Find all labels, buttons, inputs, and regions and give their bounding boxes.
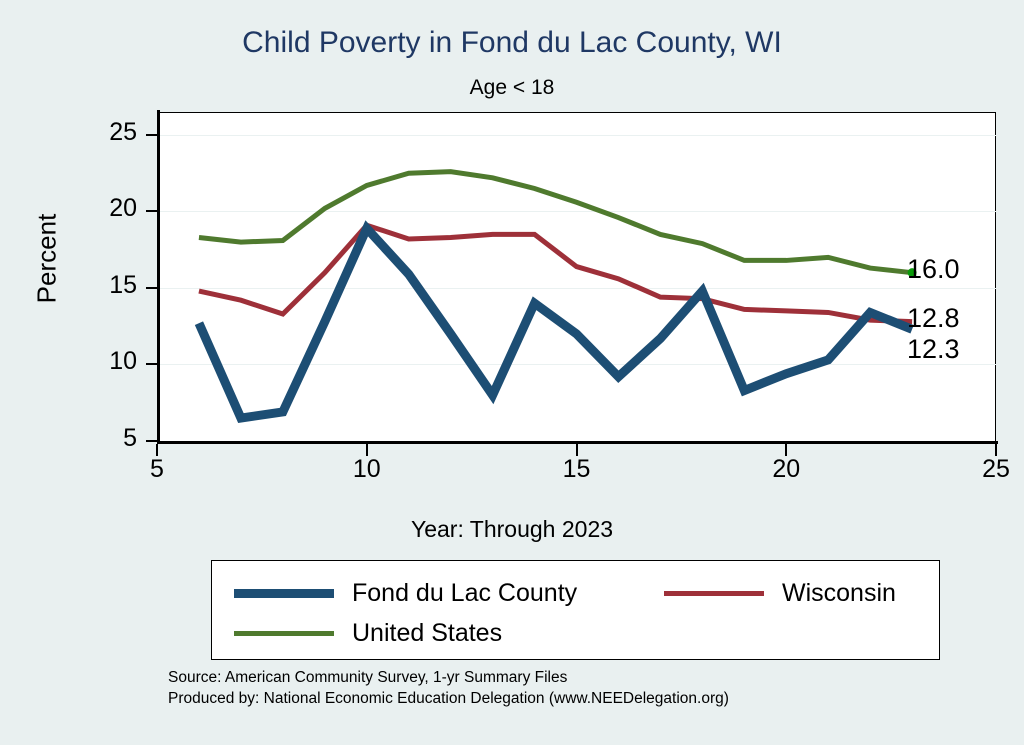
y-axis-label: Percent [32, 179, 63, 339]
chart-footer: Source: American Community Survey, 1-yr … [168, 668, 729, 709]
legend-label-fond-du-lac-county: Fond du Lac County [352, 579, 577, 608]
legend-swatch-united-states [234, 631, 334, 636]
series-end-label: 12.8 [907, 303, 960, 334]
y-tick-mark [146, 440, 157, 442]
x-tick-label: 15 [542, 455, 612, 484]
footer-produced-by: Produced by: National Economic Education… [168, 689, 729, 710]
y-tick-label: 20 [75, 194, 137, 223]
legend-label-wisconsin: Wisconsin [782, 579, 896, 608]
gridline [157, 135, 996, 136]
y-tick-mark [146, 363, 157, 365]
y-tick-label: 15 [75, 271, 137, 300]
y-tick-label: 5 [75, 424, 137, 453]
y-tick-mark [146, 287, 157, 289]
legend-item-wisconsin: Wisconsin [664, 579, 896, 608]
y-axis-line [157, 110, 160, 444]
y-tick-label: 25 [75, 118, 137, 147]
chart-subtitle: Age < 18 [0, 76, 1024, 100]
x-axis-label: Year: Through 2023 [0, 516, 1024, 543]
legend-item-united-states: United States [234, 619, 502, 648]
legend-item-fond-du-lac-county: Fond du Lac County [234, 579, 577, 608]
series-end-label: 16.0 [907, 254, 960, 285]
chart-figure: Child Poverty in Fond du Lac County, WI … [0, 0, 1024, 745]
x-tick-label: 5 [122, 455, 192, 484]
footer-source: Source: American Community Survey, 1-yr … [168, 668, 729, 689]
gridline [157, 364, 996, 365]
x-tick-label: 25 [961, 455, 1024, 484]
x-axis-line [157, 441, 998, 444]
y-tick-mark [146, 134, 157, 136]
x-tick-label: 20 [751, 455, 821, 484]
x-tick-label: 10 [332, 455, 402, 484]
chart-legend: Fond du Lac County Wisconsin United Stat… [211, 560, 940, 660]
gridline [157, 211, 996, 212]
legend-label-united-states: United States [352, 619, 502, 648]
y-tick-label: 10 [75, 347, 137, 376]
y-tick-mark [146, 210, 157, 212]
gridline [157, 288, 996, 289]
plot-area [157, 112, 996, 442]
chart-title: Child Poverty in Fond du Lac County, WI [0, 26, 1024, 60]
legend-swatch-fond-du-lac-county [234, 589, 334, 598]
series-end-label: 12.3 [907, 334, 960, 365]
legend-swatch-wisconsin [664, 591, 764, 596]
